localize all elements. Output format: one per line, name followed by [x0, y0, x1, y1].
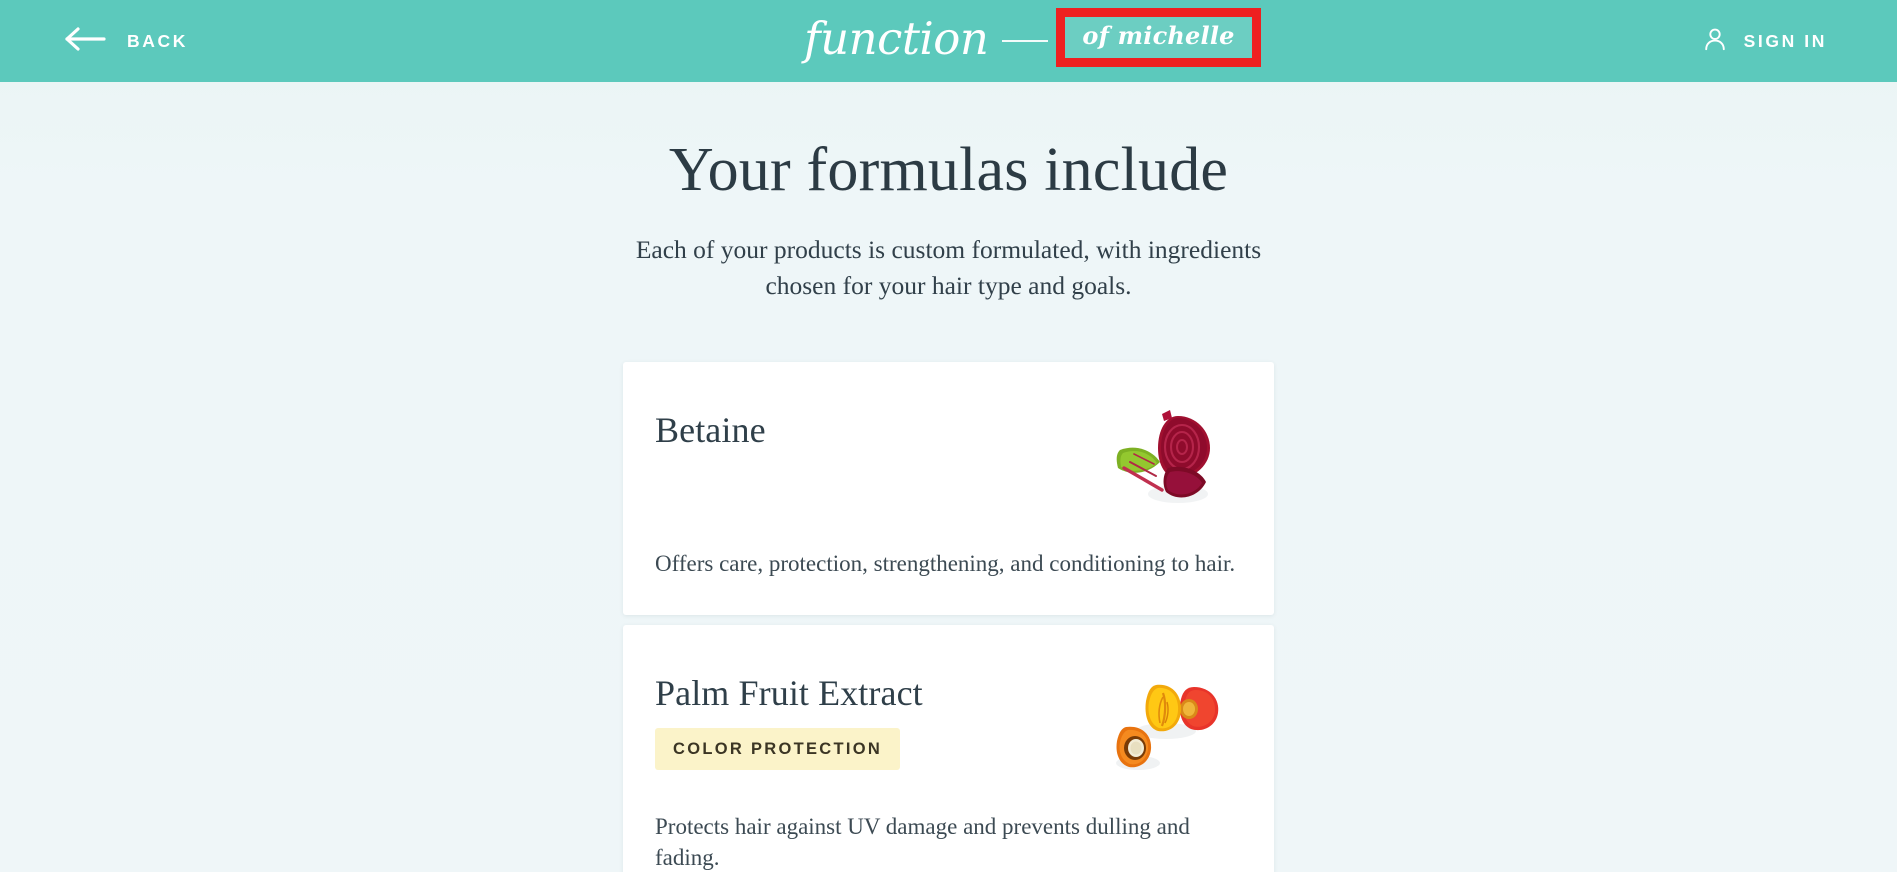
sign-in-label: SIGN IN: [1744, 31, 1827, 52]
page-title: Your formulas include: [0, 136, 1897, 204]
main-content: Your formulas include Each of your produ…: [0, 82, 1897, 872]
brand-logo[interactable]: function of michelle: [804, 0, 1261, 82]
ingredient-description: Protects hair against UV damage and prev…: [655, 811, 1242, 872]
palm-fruit-image: [1108, 669, 1226, 777]
card-header-text: Betaine: [655, 406, 766, 451]
logo-dash-icon: [1002, 40, 1048, 42]
ingredient-badge: COLOR PROTECTION: [655, 728, 900, 770]
card-header: Betaine: [655, 406, 1242, 514]
card-header: Palm Fruit Extract COLOR PROTECTION: [655, 669, 1242, 777]
page-root: BACK function of michelle SIGN IN Your f…: [0, 0, 1897, 872]
back-label: BACK: [127, 31, 188, 52]
ingredient-description: Offers care, protection, strengthening, …: [655, 548, 1242, 579]
arrow-left-icon: [64, 26, 106, 57]
back-button[interactable]: BACK: [64, 0, 188, 82]
site-header: BACK function of michelle SIGN IN: [0, 0, 1897, 82]
logo-highlight-box: of michelle: [1056, 8, 1260, 67]
ingredient-card[interactable]: Palm Fruit Extract COLOR PROTECTION: [623, 625, 1274, 872]
ingredient-title: Betaine: [655, 410, 766, 451]
ingredient-title: Palm Fruit Extract: [655, 673, 923, 714]
sign-in-button[interactable]: SIGN IN: [1702, 0, 1827, 82]
logo-owner-name: of michelle: [1082, 21, 1234, 50]
ingredient-card-list: Betaine: [623, 362, 1274, 872]
page-subtitle: Each of your products is custom formulat…: [619, 232, 1279, 304]
user-icon: [1702, 26, 1728, 57]
logo-wordmark: function: [804, 16, 988, 61]
card-header-text: Palm Fruit Extract COLOR PROTECTION: [655, 669, 923, 770]
beetroot-image: [1108, 406, 1226, 514]
ingredient-card[interactable]: Betaine: [623, 362, 1274, 615]
